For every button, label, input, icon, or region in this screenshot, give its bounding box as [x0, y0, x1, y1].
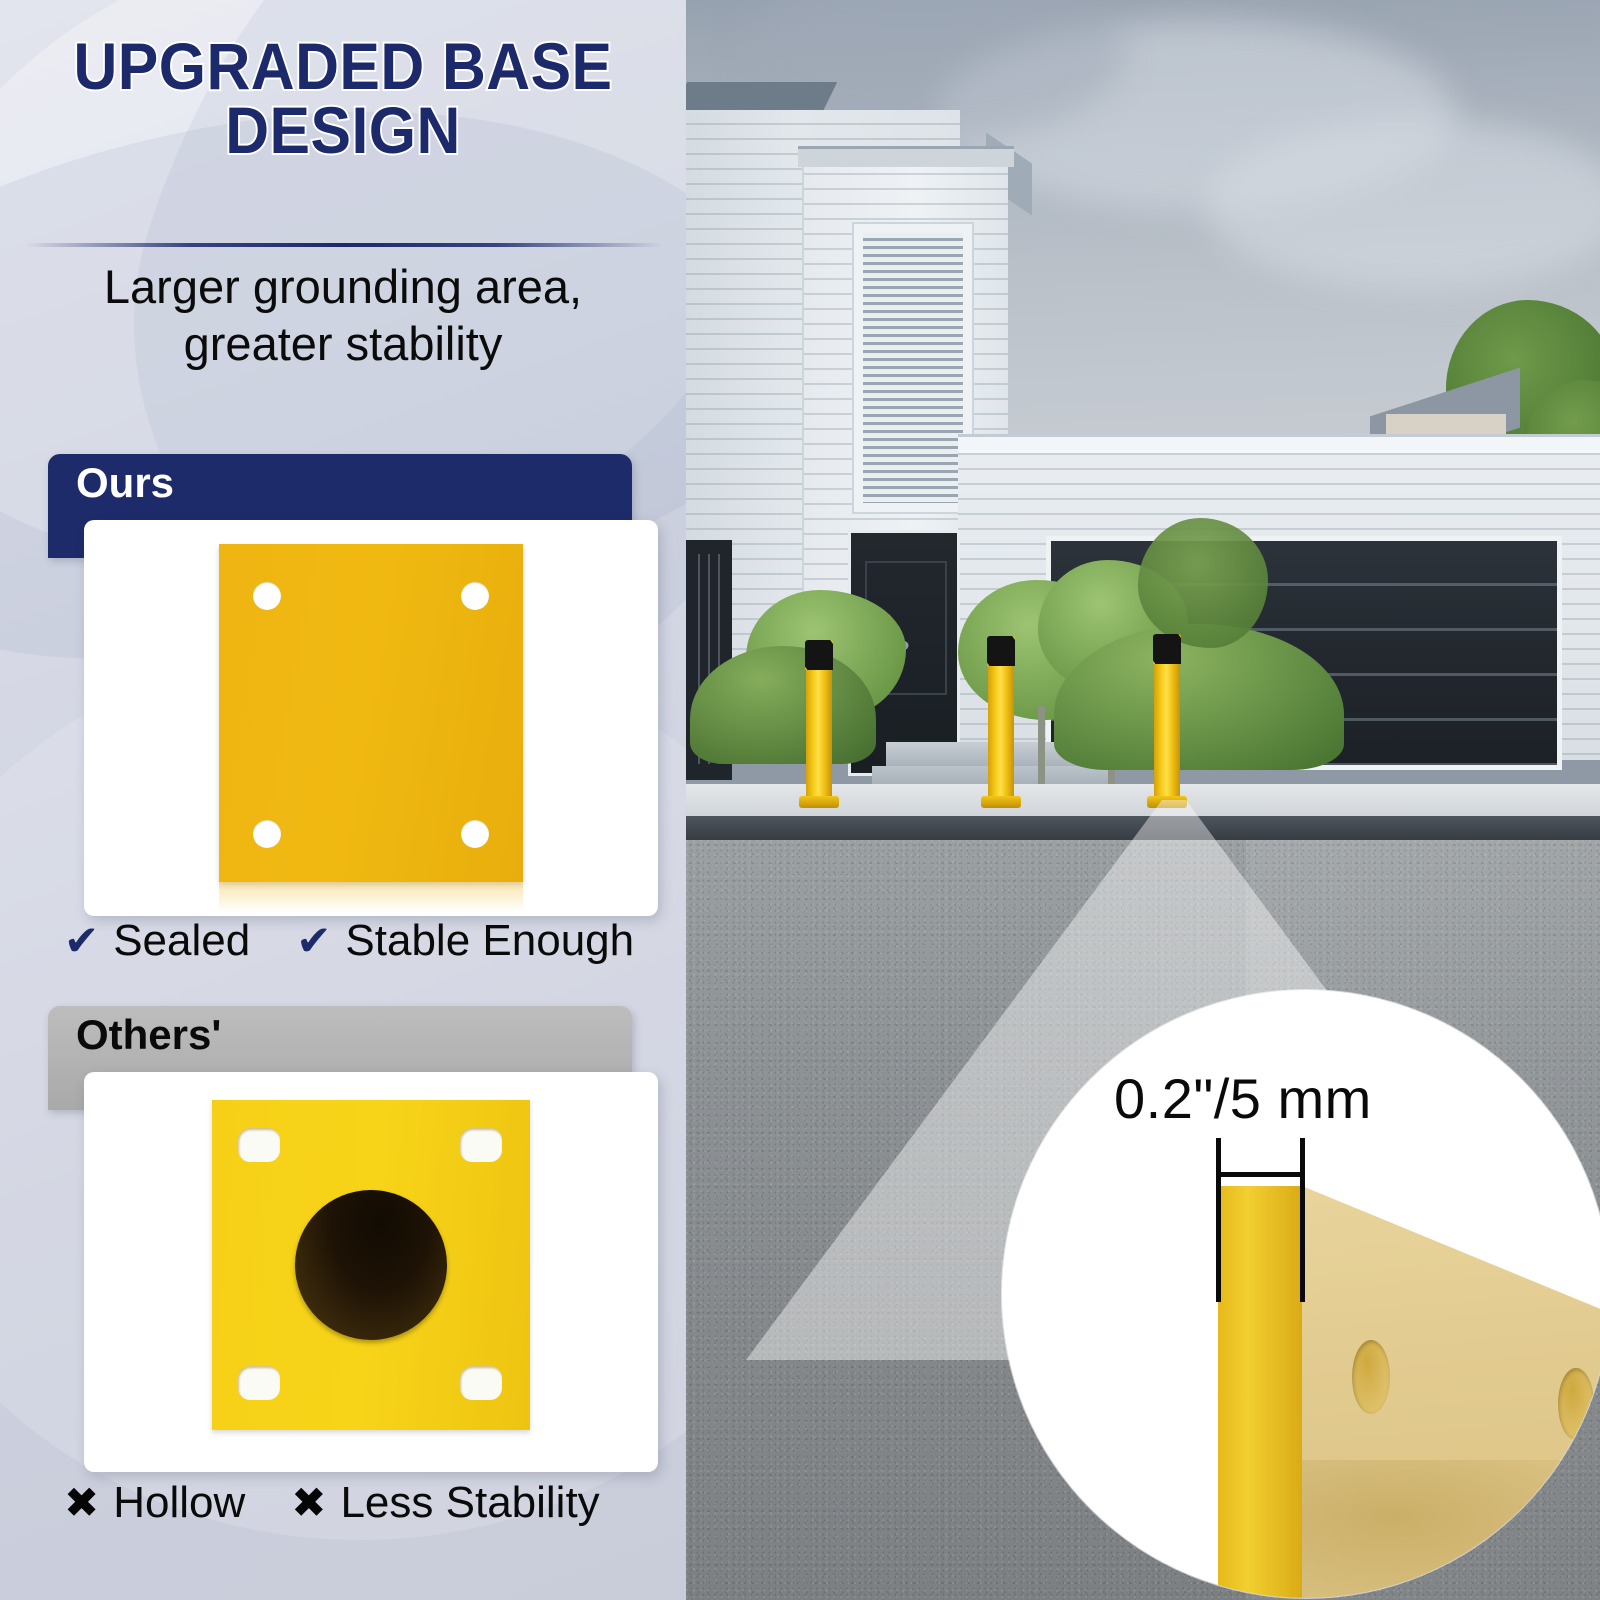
comparison-block-ours: Ours [48, 454, 660, 924]
hollow-center-hole [295, 1190, 447, 1340]
ours-feature-list: ✔ Sealed ✔ Stable Enough [64, 916, 634, 966]
others-feature-label-2: Less Stability [340, 1478, 599, 1528]
ours-label: Ours [76, 459, 174, 506]
bollard-cap [1153, 634, 1181, 664]
bay-roof-trim [798, 146, 1014, 167]
bollard-base-plate [799, 796, 840, 808]
check-icon: ✔ [64, 920, 99, 962]
plate-edge-thickness [1218, 1186, 1304, 1598]
bolt-hole-icon [253, 582, 281, 610]
bollard-stripe [987, 636, 1015, 666]
thickness-measurement-label: 0.2"/5 mm [1114, 1066, 1372, 1131]
dimension-line-right [1300, 1138, 1305, 1302]
bolt-slot-icon [460, 1366, 502, 1400]
others-base-plate-image [212, 1100, 530, 1430]
bollard-cap [987, 636, 1015, 666]
ours-feature-label-2: Stable Enough [345, 916, 634, 966]
left-info-panel: UPGRADED BASE DESIGN Larger grounding ar… [0, 0, 686, 1600]
ours-base-plate-image [219, 544, 523, 882]
bolt-slot-icon [460, 1128, 502, 1162]
bollard-2 [988, 636, 1014, 802]
plate-shadow [1302, 1460, 1600, 1598]
bollard-3 [1154, 634, 1180, 802]
others-feature-label-1: Hollow [113, 1478, 245, 1528]
dimension-line-left [1216, 1138, 1221, 1302]
ours-product-card [84, 520, 658, 916]
bollard-1 [806, 640, 832, 802]
bollard-stripe [805, 640, 833, 670]
others-feature-list: ✖ Hollow ✖ Less Stability [64, 1478, 600, 1528]
title-block: UPGRADED BASE DESIGN [0, 34, 686, 162]
check-icon: ✔ [296, 920, 331, 962]
louvered-vent-window [854, 224, 972, 512]
page-subtitle: Larger grounding area, greater stability [0, 258, 686, 373]
bolt-slot-icon [238, 1366, 280, 1400]
comparison-block-others: Others' [48, 1006, 660, 1482]
bolt-hole-icon [1352, 1340, 1390, 1414]
plate-reflection [219, 882, 523, 912]
cross-icon: ✖ [291, 1482, 326, 1524]
bollard-cap [805, 640, 833, 670]
infographic-root: UPGRADED BASE DESIGN Larger grounding ar… [0, 0, 1600, 1600]
bollard-stripe [1153, 634, 1181, 664]
bollard-base-plate [981, 796, 1022, 808]
ours-feature-label-1: Sealed [113, 916, 250, 966]
product-scene-photo: 0.2"/5 mm [686, 0, 1600, 1600]
others-product-card [84, 1072, 658, 1472]
others-label: Others' [76, 1011, 221, 1058]
cloud [1206, 120, 1600, 290]
bolt-slot-icon [238, 1128, 280, 1162]
vent-louvers [863, 233, 963, 503]
garage-fascia [958, 434, 1600, 453]
dimension-line-top [1216, 1172, 1305, 1177]
bolt-hole-icon [253, 820, 281, 848]
background-tree [1138, 518, 1268, 648]
title-divider [24, 243, 662, 247]
magnifier-detail-circle: 0.2"/5 mm [1002, 990, 1600, 1598]
page-title: UPGRADED BASE DESIGN [27, 34, 658, 162]
bolt-hole-icon [1558, 1368, 1594, 1440]
cross-icon: ✖ [64, 1482, 99, 1524]
bolt-hole-icon [461, 582, 489, 610]
bolt-hole-icon [461, 820, 489, 848]
